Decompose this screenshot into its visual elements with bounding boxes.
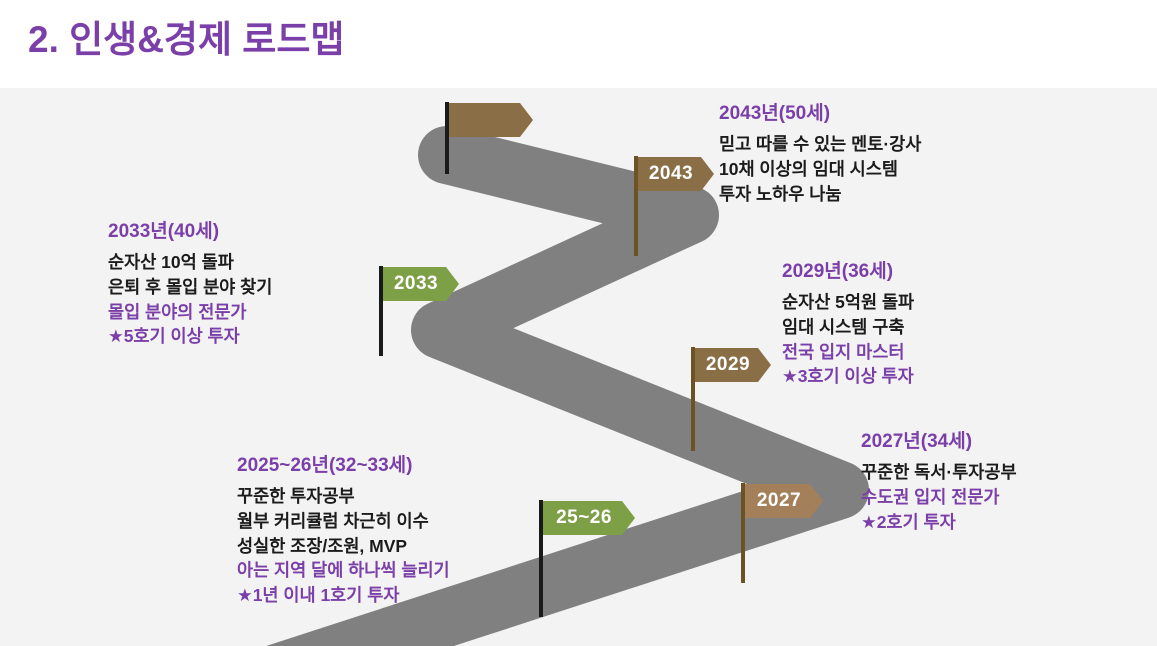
milestone-heading: 2043년(50세) [719, 103, 921, 125]
flag-pole [634, 156, 638, 256]
milestone-line: 순자산 5억원 돌파 [782, 290, 914, 315]
milestone-line: 10채 이상의 임대 시스템 [719, 157, 921, 182]
milestone-line: 아는 지역 달에 하나씩 늘리기 [237, 558, 450, 583]
page-title: 2. 인생&경제 로드맵 [28, 9, 344, 63]
flag-pole [741, 483, 745, 583]
milestone-line: ★2호기 투자 [861, 510, 1017, 535]
milestone-line: 순자산 10억 돌파 [108, 250, 272, 275]
milestone-heading: 2027년(34세) [861, 431, 1017, 453]
milestone-2025-26: 2025~26년(32~33세) 꾸준한 투자공부 월부 커리큘럼 차근히 이수… [237, 455, 450, 608]
milestone-line: 임대 시스템 구축 [782, 315, 914, 340]
flag-pole [691, 347, 695, 451]
milestone-line: 꾸준한 독서·투자공부 [861, 460, 1017, 485]
roadmap-canvas: 2043 2033 2029 2027 25~26 2043년(50세) 믿고 … [0, 88, 1157, 646]
milestone-line: 전국 입지 마스터 [782, 340, 914, 365]
milestone-line: 몰입 분야의 전문가 [108, 300, 272, 325]
milestone-heading: 2033년(40세) [108, 221, 272, 243]
flag-banner-label: 2033 [383, 267, 459, 301]
flag-banner-label: 2029 [695, 348, 771, 382]
milestone-line: 투자 노하우 나눔 [719, 182, 921, 207]
milestone-line: 은퇴 후 몰입 분야 찾기 [108, 275, 272, 300]
milestone-2043: 2043년(50세) 믿고 따를 수 있는 멘토·강사 10채 이상의 임대 시… [719, 103, 921, 206]
milestone-line: 꾸준한 투자공부 [237, 484, 450, 509]
flag-pole [539, 500, 543, 617]
milestone-line: ★1년 이내 1호기 투자 [237, 583, 450, 608]
milestone-line: 수도권 입지 전문가 [861, 485, 1017, 510]
flag-banner-label [449, 103, 533, 137]
milestone-line: 월부 커리큘럼 차근히 이수 [237, 509, 450, 534]
slide-header: 2. 인생&경제 로드맵 [0, 0, 1157, 88]
milestone-2029: 2029년(36세) 순자산 5억원 돌파 임대 시스템 구축 전국 입지 마스… [782, 261, 914, 389]
milestone-heading: 2029년(36세) [782, 261, 914, 283]
milestone-2027: 2027년(34세) 꾸준한 독서·투자공부 수도권 입지 전문가 ★2호기 투… [861, 431, 1017, 534]
flag-banner-label: 2043 [638, 157, 714, 191]
milestone-line: 성실한 조장/조원, MVP [237, 534, 450, 559]
milestone-line: ★5호기 이상 투자 [108, 324, 272, 349]
flag-banner-label: 25~26 [543, 501, 635, 535]
flag-banner-label: 2027 [745, 484, 823, 518]
flag-pole [379, 266, 383, 356]
road-path-graphic [0, 88, 1157, 646]
milestone-line: ★3호기 이상 투자 [782, 364, 914, 389]
milestone-line: 믿고 따를 수 있는 멘토·강사 [719, 132, 921, 157]
flag-pole [445, 102, 449, 174]
milestone-2033: 2033년(40세) 순자산 10억 돌파 은퇴 후 몰입 분야 찾기 몰입 분… [108, 221, 272, 349]
milestone-heading: 2025~26년(32~33세) [237, 455, 450, 477]
